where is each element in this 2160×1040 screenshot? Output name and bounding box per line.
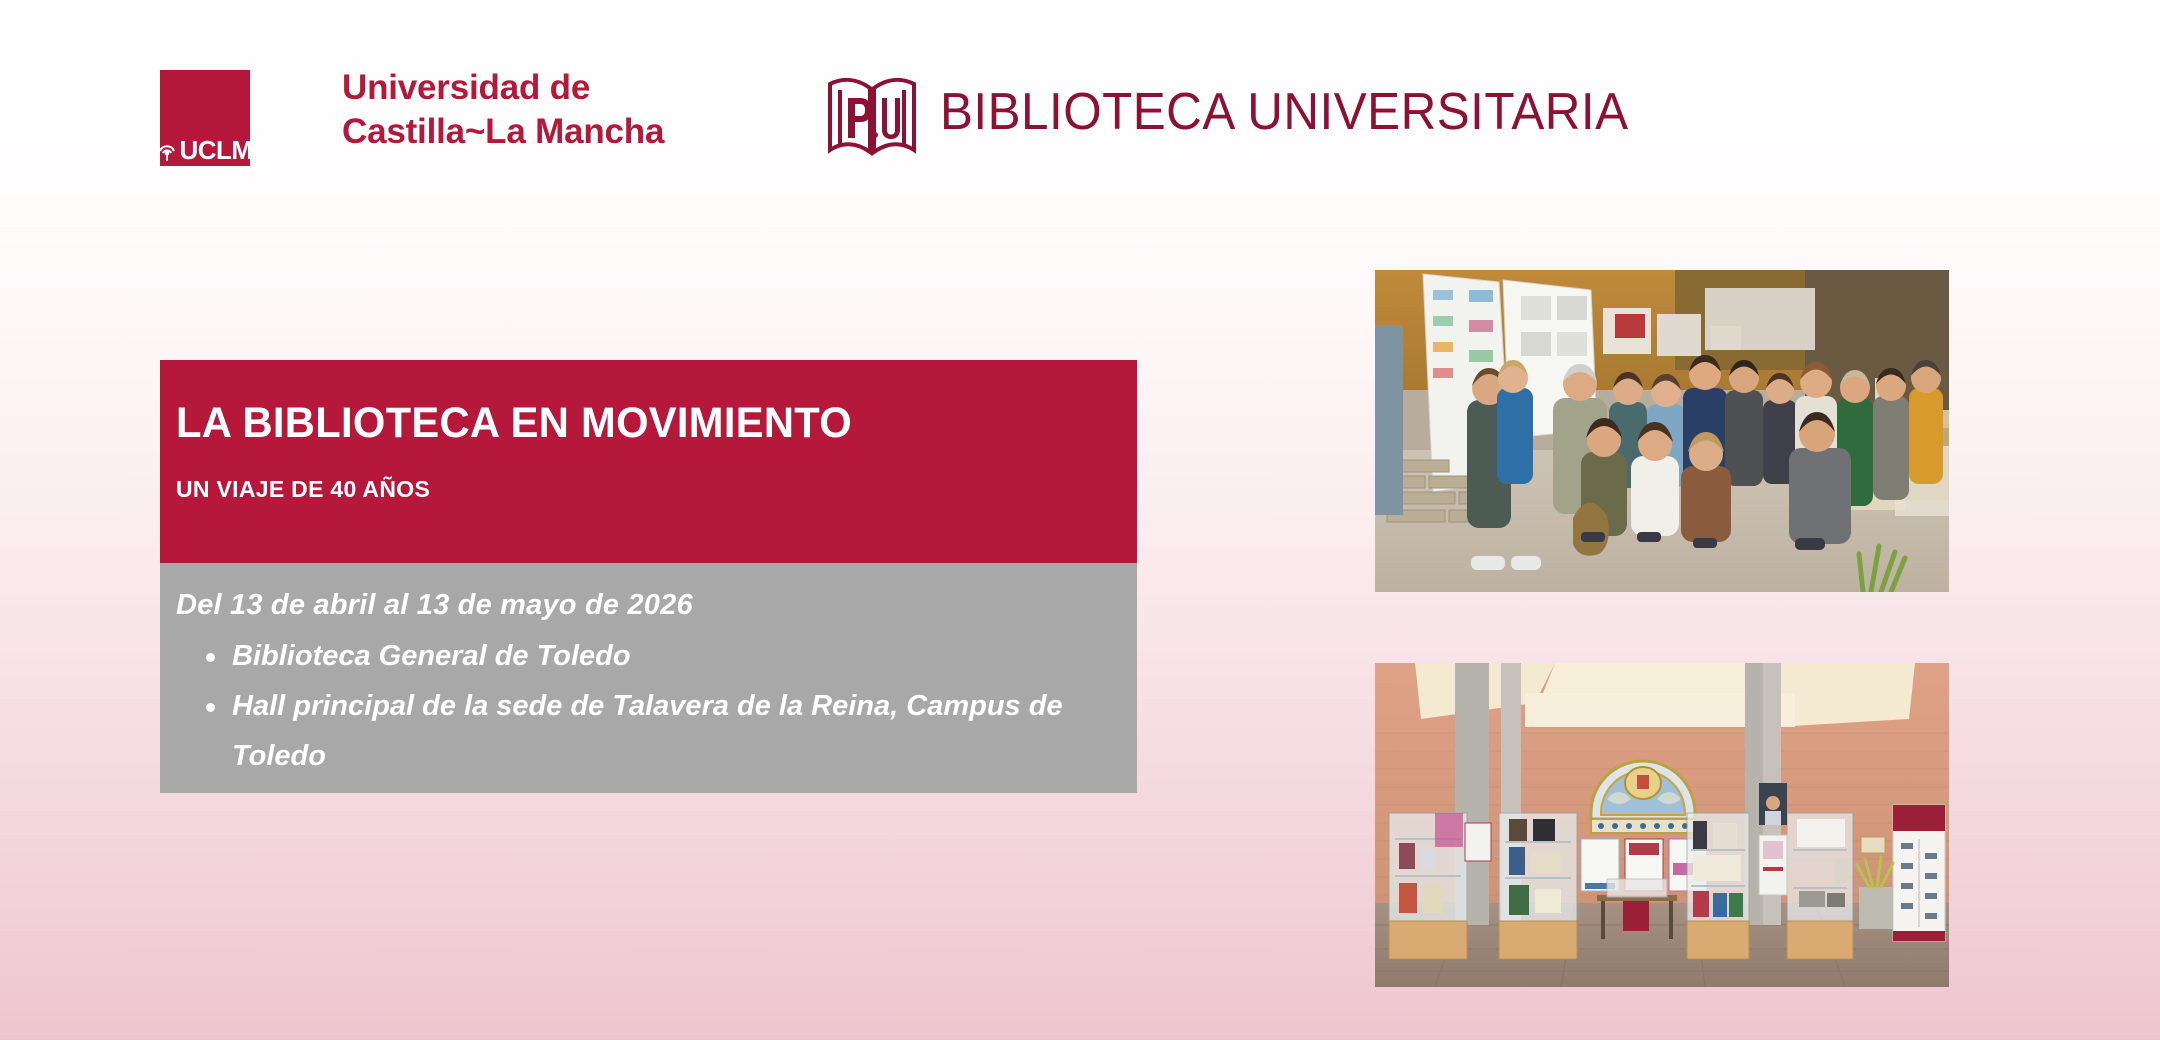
uclm-wordmark: Universidad de Castilla~La Mancha bbox=[342, 66, 664, 154]
uclm-logo-mark: UCLM bbox=[160, 70, 250, 166]
biblioteca-universitaria-logo: BIBLIOTECA UNIVERSITARIA bbox=[822, 62, 1665, 162]
exhibition-title: LA BIBLIOTECA EN MOVIMIENTO bbox=[176, 398, 1108, 448]
uclm-castle-antenna-icon bbox=[157, 139, 177, 161]
uclm-acronym: UCLM bbox=[179, 139, 252, 161]
uclm-wordmark-line1: Universidad de bbox=[342, 66, 664, 110]
exhibition-info-panel: Del 13 de abril al 13 de mayo de 2026 Bi… bbox=[160, 563, 1137, 793]
biblioteca-universitaria-title: BIBLIOTECA UNIVERSITARIA bbox=[940, 82, 1629, 142]
exhibition-subtitle: UN VIAJE DE 40 AÑOS bbox=[176, 474, 1137, 504]
header: UCLM Universidad de Castilla~La Mancha B… bbox=[0, 0, 2160, 230]
list-item: Hall principal de la sede de Talavera de… bbox=[176, 681, 1132, 781]
group-photo-library-staff bbox=[1375, 270, 1949, 592]
exhibition-locations-list: Biblioteca General de Toledo Hall princi… bbox=[176, 631, 1137, 781]
exhibition-date-range: Del 13 de abril al 13 de mayo de 2026 bbox=[176, 585, 1137, 625]
exhibition-hall-photo bbox=[1375, 663, 1949, 987]
list-item: Biblioteca General de Toledo bbox=[176, 631, 1132, 681]
uclm-wordmark-line2: Castilla~La Mancha bbox=[342, 110, 664, 154]
open-book-bu-icon bbox=[822, 62, 922, 162]
exhibition-title-banner: LA BIBLIOTECA EN MOVIMIENTO UN VIAJE DE … bbox=[160, 360, 1137, 563]
